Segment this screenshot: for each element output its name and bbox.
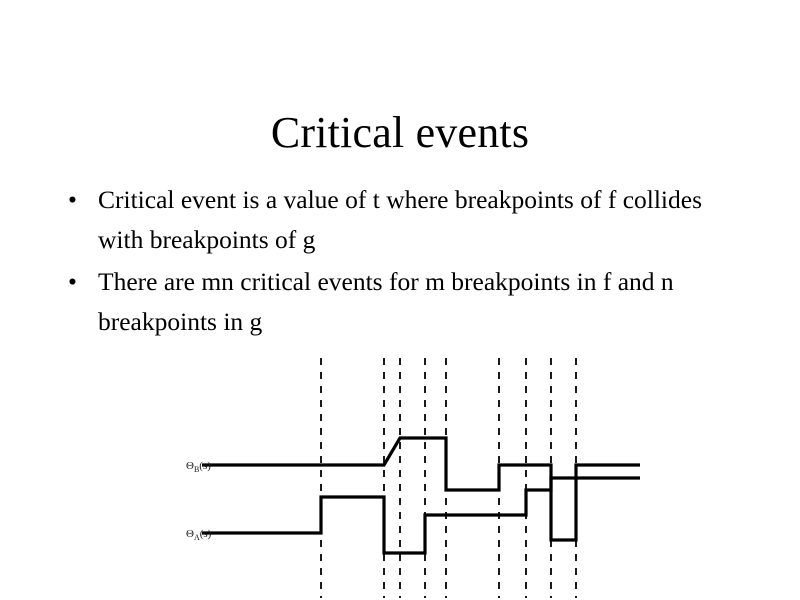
breakpoint-lines-group <box>321 358 576 598</box>
list-item: • There are mn critical events for m bre… <box>62 262 752 342</box>
critical-events-diagram: ΘB(s) ΘA(s) <box>180 350 650 600</box>
step-series-group <box>202 438 640 553</box>
bullet-marker-icon: • <box>68 262 77 302</box>
bullet-text: Critical event is a value of t where bre… <box>98 180 752 260</box>
slide-canvas: Critical events • Critical event is a va… <box>0 0 800 600</box>
bullet-list: • Critical event is a value of t where b… <box>62 180 752 344</box>
step-function-plot: ΘB(s) ΘA(s) <box>180 350 650 600</box>
bullet-text: There are mn critical events for m break… <box>98 262 752 342</box>
bullet-marker-icon: • <box>68 180 77 220</box>
list-item: • Critical event is a value of t where b… <box>62 180 752 260</box>
step-series-theta-b <box>202 438 640 540</box>
page-title: Critical events <box>0 107 800 159</box>
theta-b-label: ΘB(s) <box>186 460 211 474</box>
theta-a-label: ΘA(s) <box>186 528 212 542</box>
